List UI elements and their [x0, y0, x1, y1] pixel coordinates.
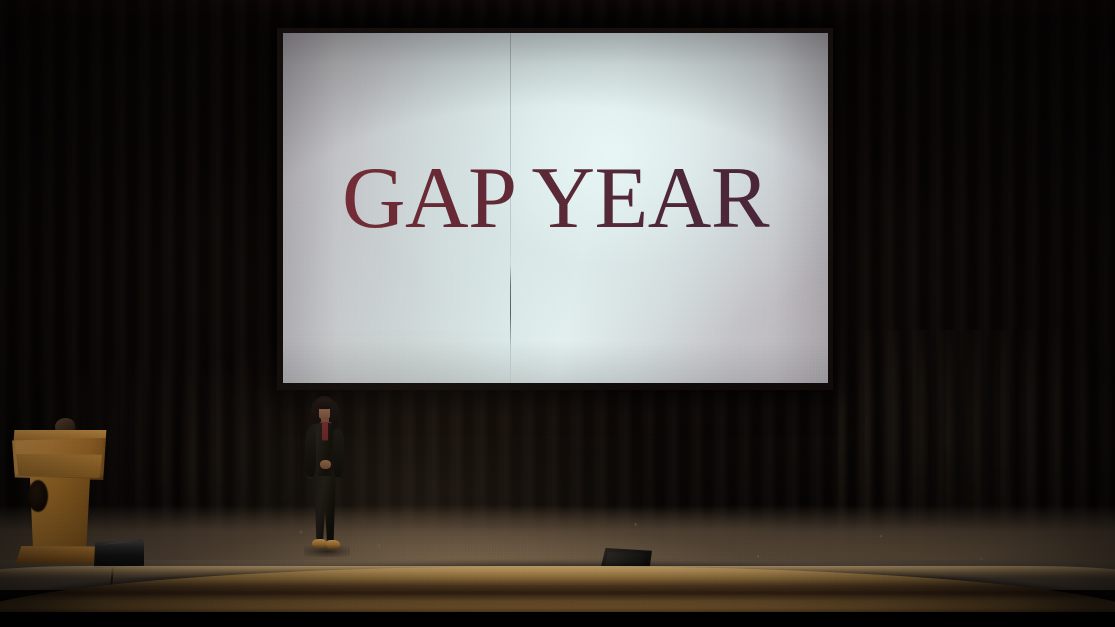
presenter-shoe-left [312, 539, 326, 548]
podium [8, 424, 108, 564]
equipment-case [94, 540, 144, 568]
orchestra-pit [0, 612, 1115, 627]
podium-base [16, 546, 104, 564]
podium-head-face [16, 454, 102, 478]
presenter-shoe-right [326, 540, 340, 549]
podium-emblem [28, 480, 48, 512]
stage-presentation-scene: GAP YEAR [0, 0, 1115, 627]
presenter-hands [320, 460, 331, 469]
presenter-arm-left [305, 429, 316, 477]
slide-title: GAP YEAR [283, 33, 828, 383]
presenter-arm-right [333, 429, 344, 477]
projection-screen: GAP YEAR [283, 33, 828, 383]
presenter [294, 396, 354, 562]
presenter-pants [313, 476, 337, 542]
